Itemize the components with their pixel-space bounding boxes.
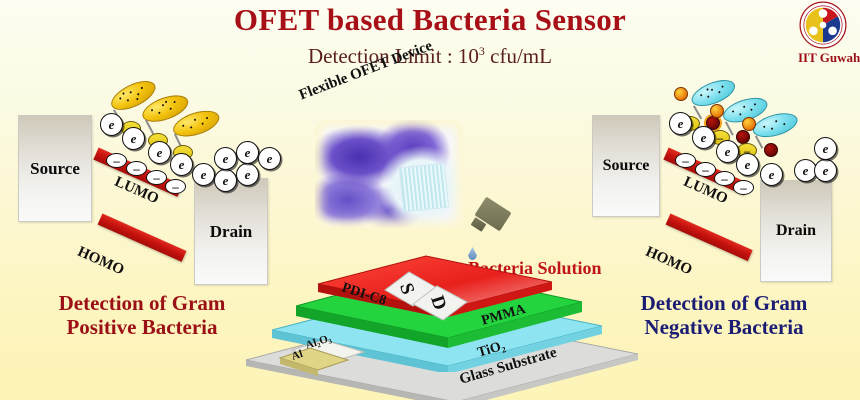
flexible-substrate-strip bbox=[399, 163, 450, 213]
left-electron: e bbox=[214, 147, 237, 170]
left-homo-label: HOMO bbox=[75, 244, 127, 280]
left-electron: e bbox=[122, 127, 145, 150]
dropper-bottle-icon bbox=[470, 203, 512, 245]
iit-guwahati-triskelion-logo bbox=[799, 1, 847, 49]
left-electron: e bbox=[170, 153, 193, 176]
stack-electrode-drain: D bbox=[411, 280, 469, 333]
figure-title: OFET based Bacteria Sensor bbox=[0, 2, 860, 38]
right-linker-anchor bbox=[736, 130, 750, 144]
right-electron: e bbox=[716, 140, 739, 163]
device-cross-section-stack: Glass Substrate TiO₂ PMMA bbox=[248, 258, 648, 400]
left-lumo-charge: – bbox=[126, 161, 147, 176]
right-bacterium-charge-group bbox=[710, 104, 724, 118]
right-drain-label: Drain bbox=[776, 222, 816, 240]
right-lumo-charge: – bbox=[733, 180, 754, 195]
right-electron: e bbox=[736, 153, 759, 176]
flexible-ofet-device-photo bbox=[315, 120, 463, 228]
right-drain-electrode: Drain bbox=[760, 180, 832, 282]
right-linker-anchor bbox=[764, 143, 778, 157]
right-lumo-charge: – bbox=[675, 153, 696, 168]
left-homo-band bbox=[98, 214, 187, 262]
left-source-label: Source bbox=[30, 159, 80, 179]
right-bacterium-charge-group bbox=[674, 87, 688, 101]
left-electron: e bbox=[236, 163, 259, 186]
left-electron: e bbox=[236, 141, 259, 164]
left-electron: e bbox=[214, 169, 237, 192]
left-lumo-charge: – bbox=[106, 153, 127, 168]
right-electron: e bbox=[669, 112, 692, 135]
right-electron: e bbox=[814, 137, 837, 160]
left-electron: e bbox=[148, 141, 171, 164]
left-lumo-charge: – bbox=[146, 170, 167, 185]
right-homo-label: HOMO bbox=[643, 244, 695, 280]
left-source-electrode: Source bbox=[18, 115, 92, 222]
right-electron: e bbox=[814, 159, 837, 182]
left-lumo-charge: – bbox=[165, 179, 186, 194]
institute-logo-block: IIT Guwahati bbox=[792, 1, 854, 66]
right-electron: e bbox=[692, 126, 715, 149]
figure-canvas: OFET based Bacteria Sensor Detection Lim… bbox=[0, 0, 860, 400]
left-panel-caption: Detection of Gram Positive Bacteria bbox=[12, 292, 272, 339]
stack-layer-al: Al bbox=[278, 340, 352, 385]
left-electron: e bbox=[192, 163, 215, 186]
left-electron: e bbox=[258, 147, 281, 170]
right-bacterium-charge-group bbox=[742, 117, 756, 131]
right-source-electrode: Source bbox=[592, 115, 660, 217]
institute-logo-label: IIT Guwahati bbox=[798, 50, 860, 66]
right-lumo-charge: – bbox=[714, 171, 735, 186]
left-drain-label: Drain bbox=[210, 222, 253, 242]
left-electron: e bbox=[100, 113, 123, 136]
right-lumo-charge: – bbox=[695, 162, 716, 177]
right-source-label: Source bbox=[603, 157, 650, 175]
right-panel-caption: Detection of Gram Negative Bacteria bbox=[594, 292, 854, 339]
right-electron: e bbox=[760, 163, 783, 186]
detection-limit-suffix: cfu/mL bbox=[485, 44, 552, 68]
right-homo-band bbox=[666, 214, 753, 262]
